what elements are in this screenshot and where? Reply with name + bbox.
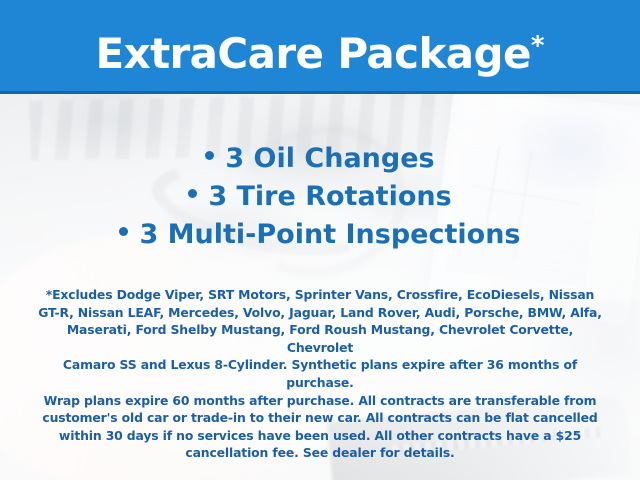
disclaimer-text: *Excludes Dodge Viper, SRT Motors, Sprin…: [32, 286, 608, 462]
disclaimer-line: *Excludes Dodge Viper, SRT Motors, Sprin…: [32, 286, 608, 304]
disclaimer-line: cancellation fee. See dealer for details…: [32, 444, 608, 462]
benefits-list: 3 Oil Changes 3 Tire Rotations 3 Multi-P…: [0, 140, 640, 254]
benefit-label: 3 Multi-Point Inspections: [139, 219, 520, 250]
bullet-dot-icon: [119, 227, 128, 236]
page-title: ExtraCare Package*: [0, 18, 640, 82]
disclaimer-line: GT-R, Nissan LEAF, Mercedes, Volvo, Jagu…: [32, 304, 608, 322]
extracare-package-ad: ExtraCare Package* 3 Oil Changes 3 Tire …: [0, 0, 640, 480]
disclaimer-line: Camaro SS and Lexus 8-Cylinder. Syntheti…: [32, 356, 608, 391]
header-divider-rule: [0, 91, 640, 94]
list-item: 3 Multi-Point Inspections: [0, 216, 640, 254]
bullet-dot-icon: [205, 151, 214, 160]
disclaimer-line: within 30 days if no services have been …: [32, 427, 608, 445]
benefit-label: 3 Oil Changes: [225, 143, 434, 174]
disclaimer-line: customer's old car or trade-in to their …: [32, 409, 608, 427]
benefit-label: 3 Tire Rotations: [208, 181, 451, 212]
disclaimer-line: Wrap plans expire 60 months after purcha…: [32, 392, 608, 410]
page-title-text: ExtraCare Package: [95, 29, 530, 78]
list-item: 3 Oil Changes: [0, 140, 640, 178]
disclaimer-line: Maserati, Ford Shelby Mustang, Ford Rous…: [32, 321, 608, 356]
list-item: 3 Tire Rotations: [0, 178, 640, 216]
bullet-dot-icon: [188, 189, 197, 198]
page-title-footnote-marker: *: [531, 31, 545, 61]
